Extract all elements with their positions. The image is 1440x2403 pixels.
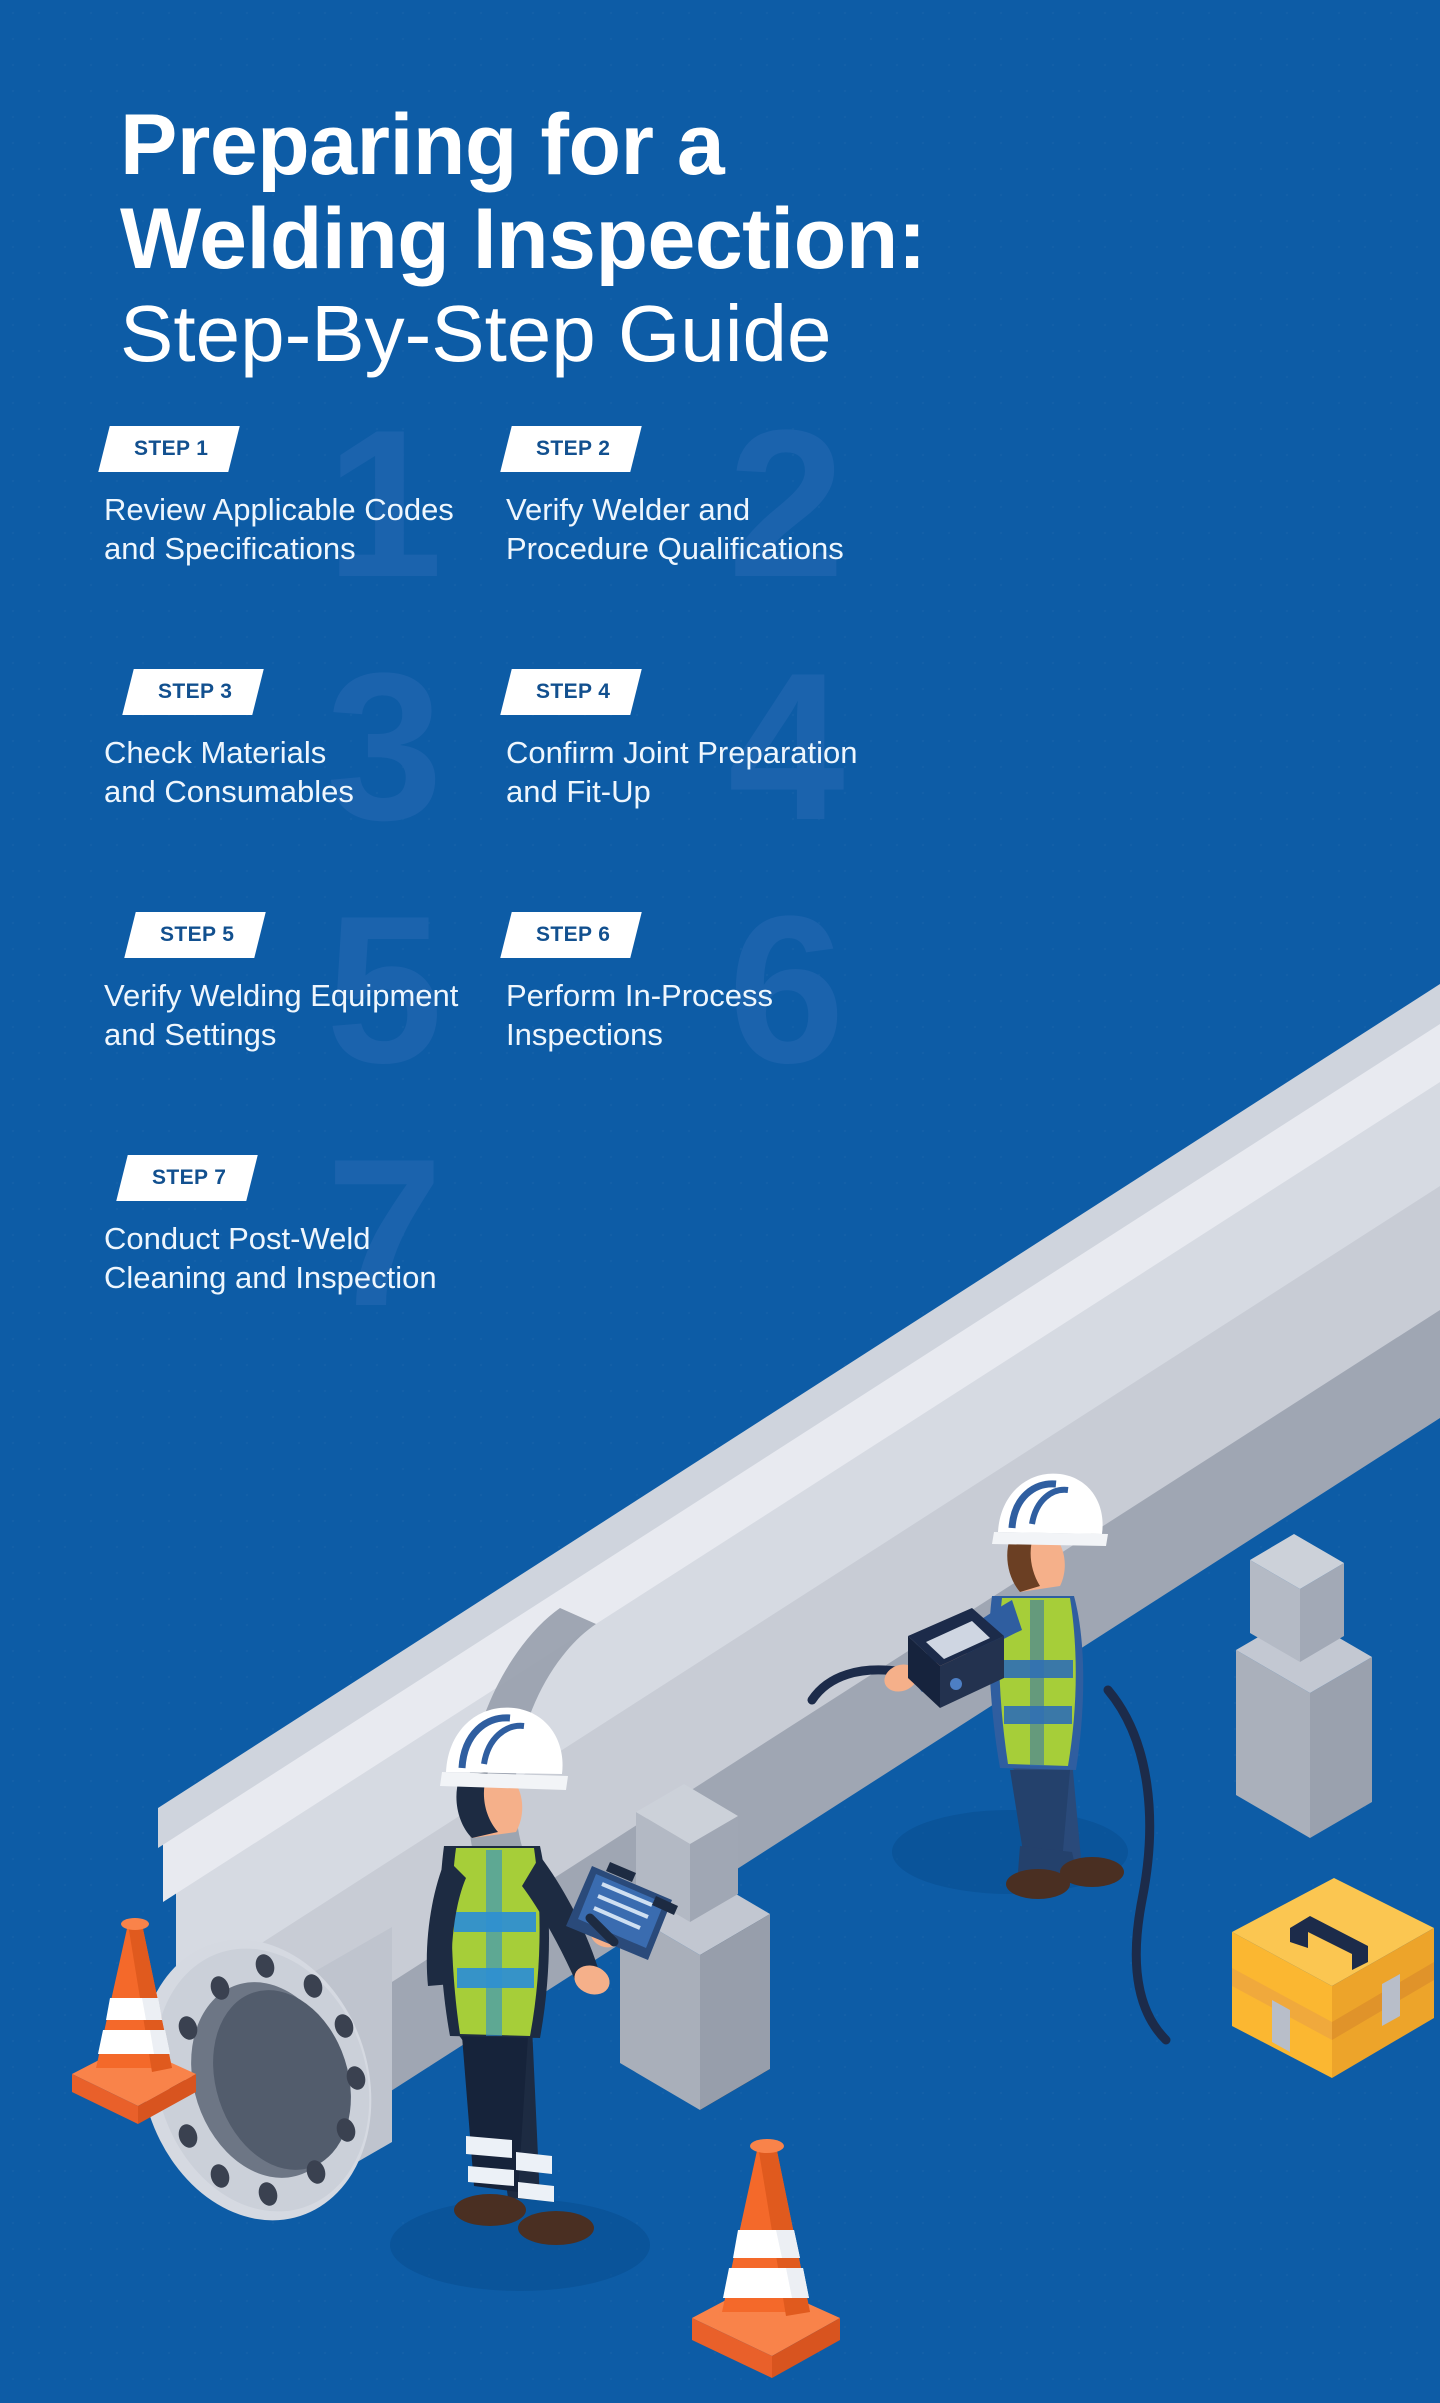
tablet-cable-left <box>812 1670 903 1700</box>
step-text-7: Conduct Post-Weld Cleaning and Inspectio… <box>104 1219 504 1297</box>
toolbox-handle <box>1290 1916 1368 1970</box>
title-line-2: Welding Inspection: <box>120 192 1120 286</box>
hair <box>456 1772 498 1838</box>
step-item-6[interactable]: 6 STEP 6 Perform In-Process Inspections <box>506 912 906 1054</box>
page-title: Preparing for a Welding Inspection: Step… <box>120 98 1120 382</box>
pipe-support-right <box>1236 1534 1372 1838</box>
toolbox-latch-left <box>1272 2000 1290 2052</box>
step-badge-4[interactable]: STEP 4 <box>500 669 642 715</box>
safety-vest <box>452 1848 540 2036</box>
step-badge-label-6: STEP 6 <box>536 923 610 947</box>
steps-row-1: 1 STEP 1 Review Applicable Codes and Spe… <box>104 426 1384 669</box>
step-badge-2[interactable]: STEP 2 <box>500 426 642 472</box>
flange-bolt-holes <box>164 1952 369 2208</box>
toolbox <box>1232 1878 1434 2078</box>
inspector-tablet-worker <box>812 1474 1166 2040</box>
steps-row-3: 5 STEP 5 Verify Welding Equipment and Se… <box>104 912 1384 1155</box>
inspection-tablet <box>908 1608 1004 1708</box>
step-badge-label-5: STEP 5 <box>160 923 234 947</box>
title-line-3: Step-By-Step Guide <box>120 286 1120 382</box>
infographic-poster: Preparing for a Welding Inspection: Step… <box>0 0 1440 2403</box>
step-item-4[interactable]: 4 STEP 4 Confirm Joint Preparation and F… <box>506 669 906 811</box>
face <box>460 1776 523 1838</box>
hair <box>1007 1534 1040 1592</box>
traffic-cone-bottom <box>692 2139 840 2378</box>
step-badge-7[interactable]: STEP 7 <box>116 1155 258 1201</box>
step-text-5: Verify Welding Equipment and Settings <box>104 976 504 1054</box>
shoe-left <box>454 2194 526 2226</box>
shoe-right <box>518 2211 594 2245</box>
hard-hat <box>992 1474 1108 1546</box>
shadow-ellipse-left <box>390 2199 650 2291</box>
step-badge-label-1: STEP 1 <box>134 437 208 461</box>
pen <box>590 1918 614 1942</box>
steps-row-2: 3 STEP 3 Check Materials and Consumables… <box>104 669 1384 912</box>
steps-grid: 1 STEP 1 Review Applicable Codes and Spe… <box>104 426 1384 1398</box>
step-badge-6[interactable]: STEP 6 <box>500 912 642 958</box>
toolbox-latch-right <box>1382 1974 1400 2026</box>
step-badge-label-4: STEP 4 <box>536 680 610 704</box>
hard-hat <box>440 1708 568 1790</box>
step-badge-label-3: STEP 3 <box>158 680 232 704</box>
step-text-3: Check Materials and Consumables <box>104 733 504 811</box>
inspector-clipboard-worker <box>427 1708 678 2245</box>
arm-left <box>906 1612 1004 1692</box>
step-text-4: Confirm Joint Preparation and Fit-Up <box>506 733 906 811</box>
step-item-3[interactable]: 3 STEP 3 Check Materials and Consumables <box>104 669 504 811</box>
arm-right <box>522 1856 598 1982</box>
step-item-7[interactable]: 7 STEP 7 Conduct Post-Weld Cleaning and … <box>104 1155 504 1297</box>
shoe-right <box>1060 1857 1124 1887</box>
step-badge-3[interactable]: STEP 3 <box>122 669 264 715</box>
pipe-support-middle <box>620 1784 770 2110</box>
tablet-cable-right <box>1108 1690 1166 2040</box>
face <box>1009 1536 1065 1592</box>
traffic-cone-left <box>72 1918 196 2124</box>
clipboard <box>566 1862 678 1960</box>
arm-left <box>427 1858 466 1986</box>
step-item-1[interactable]: 1 STEP 1 Review Applicable Codes and Spe… <box>104 426 504 568</box>
title-line-1: Preparing for a <box>120 98 1120 192</box>
step-item-2[interactable]: 2 STEP 2 Verify Welder and Procedure Qua… <box>506 426 906 568</box>
step-badge-label-2: STEP 2 <box>536 437 610 461</box>
step-badge-1[interactable]: STEP 1 <box>98 426 240 472</box>
step-item-5[interactable]: 5 STEP 5 Verify Welding Equipment and Se… <box>104 912 504 1054</box>
step-text-1: Review Applicable Codes and Specificatio… <box>104 490 504 568</box>
step-badge-label-7: STEP 7 <box>152 1166 226 1190</box>
step-text-2: Verify Welder and Procedure Qualificatio… <box>506 490 906 568</box>
shadow-ellipse-right <box>892 1810 1128 1894</box>
safety-vest <box>999 1598 1076 1766</box>
step-badge-5[interactable]: STEP 5 <box>124 912 266 958</box>
shoe-left <box>1006 1869 1070 1899</box>
arm-right <box>944 1600 1022 1668</box>
pipe-weld-collar <box>468 1608 596 1938</box>
steps-row-4: 7 STEP 7 Conduct Post-Weld Cleaning and … <box>104 1155 1384 1398</box>
pipe-flange <box>105 1909 406 2250</box>
step-text-6: Perform In-Process Inspections <box>506 976 906 1054</box>
